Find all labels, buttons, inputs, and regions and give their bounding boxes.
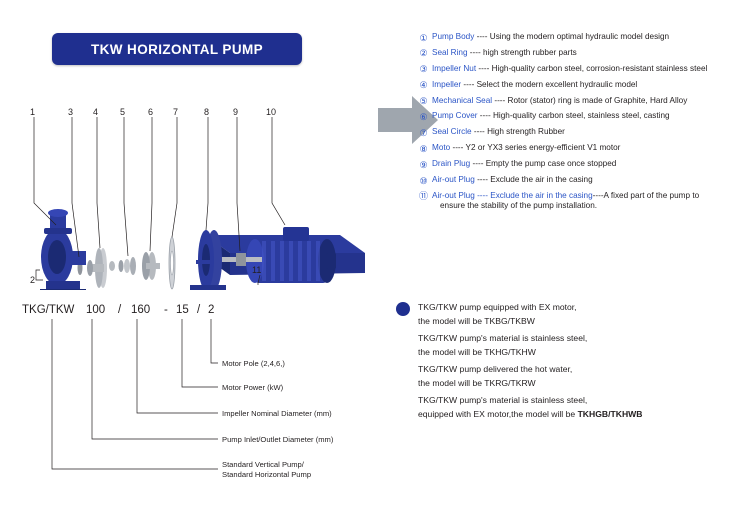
list-item: ⑥ Pump Cover ---- High-quality carbon st… [418, 111, 748, 123]
svg-text:-: - [164, 304, 168, 316]
exploded-pump-drawing: 1 3 4 5 6 7 8 9 10 2 11 [0, 85, 380, 290]
svg-text:6: 6 [148, 107, 153, 117]
list-item: ⑨ Drain Plug ---- Empty the pump case on… [418, 159, 748, 171]
svg-text:100: 100 [86, 304, 105, 316]
svg-text:2: 2 [30, 275, 35, 285]
feature-text: Mechanical Seal ---- Rotor (stator) ring… [432, 96, 748, 107]
note-item: TKG/TKW pump's material is stainless ste… [418, 393, 738, 421]
note-item: TKG/TKW pump's material is stainless ste… [418, 331, 738, 359]
feature-number: ② [418, 48, 429, 59]
feature-text: Pump Body ---- Using the modern optimal … [432, 32, 748, 43]
feature-dash: ---- [463, 80, 474, 89]
feature-desc: High strength Rubber [487, 127, 565, 136]
feature-dash: ---- [478, 64, 489, 73]
list-item: ① Pump Body ---- Using the modern optima… [418, 32, 748, 44]
note-text-bold: TKHGB/TKHWB [578, 409, 643, 419]
feature-dash: ---- [470, 48, 481, 57]
feature-text: Air-out Plug ---- Exclude the air in the… [432, 191, 748, 212]
feature-name: Impeller Nut [432, 64, 476, 73]
note-line: the model will be TKHG/TKHW [418, 345, 738, 359]
svg-text:Standard Vertical Pump/: Standard Vertical Pump/ [222, 460, 305, 469]
note-text: equipped with EX motor,the model will be [418, 409, 578, 419]
feature-desc: high strength rubber parts [483, 48, 577, 57]
feature-extra2: ensure the stability of the pump install… [432, 201, 748, 212]
page-root: TKW HORIZONTAL PUMP [0, 0, 756, 500]
model-prefix: TKG/TKW [22, 304, 75, 316]
note-line: TKG/TKW pump's material is stainless ste… [418, 393, 738, 407]
note-item: TKG/TKW pump delivered the hot water, th… [418, 362, 738, 390]
svg-text:15: 15 [176, 304, 189, 316]
feature-number: ⑤ [418, 96, 429, 107]
note-line: TKG/TKW pump equipped with EX motor, [418, 300, 738, 314]
feature-number: ⑥ [418, 112, 429, 123]
feature-number: ① [418, 33, 429, 44]
svg-text:1: 1 [30, 107, 35, 117]
feature-dash: ---- [474, 127, 485, 136]
feature-number: ④ [418, 80, 429, 91]
model-code-diagram: TKG/TKW 100 / 160 - 15 / 2 Motor Pole (2… [0, 295, 380, 500]
feature-dash: ---- [477, 32, 488, 41]
svg-text:Motor Power (kW): Motor Power (kW) [222, 383, 284, 392]
svg-text:Motor Pole (2,4,6,): Motor Pole (2,4,6,) [222, 359, 285, 368]
list-item: ② Seal Ring ---- high strength rubber pa… [418, 48, 748, 60]
feature-desc: Exclude the air in the casing [490, 175, 592, 184]
svg-text:Standard Horizontal Pump: Standard Horizontal Pump [222, 470, 311, 479]
feature-name: Pump Body [432, 32, 474, 41]
feature-text: Air-out Plug ---- Exclude the air in the… [432, 175, 748, 186]
feature-name: Seal Circle [432, 127, 472, 136]
feature-dash: ---- [494, 96, 505, 105]
svg-text:8: 8 [204, 107, 209, 117]
feature-text: Pump Cover ---- High-quality carbon stee… [432, 111, 748, 122]
feature-text: Seal Circle ---- High strength Rubber [432, 127, 748, 138]
feature-number: ⑨ [418, 160, 429, 171]
notes-list: TKG/TKW pump equipped with EX motor, the… [418, 300, 738, 424]
title-banner: TKW HORIZONTAL PUMP [52, 33, 302, 65]
note-line: TKG/TKW pump's material is stainless ste… [418, 331, 738, 345]
svg-text:Pump Inlet/Outlet Diameter (mm: Pump Inlet/Outlet Diameter (mm) [222, 435, 334, 444]
feature-desc: Empty the pump case once stopped [486, 159, 617, 168]
feature-desc: High-quality carbon steel, stainless ste… [493, 111, 670, 120]
feature-extra: ----A fixed part of the pump to [593, 191, 700, 200]
feature-text: Drain Plug ---- Empty the pump case once… [432, 159, 748, 170]
feature-name: Air-out Plug [432, 175, 475, 184]
feature-desc: Using the modern optimal hydraulic model… [490, 32, 669, 41]
feature-desc: Select the modern excellent hydraulic mo… [477, 80, 638, 89]
feature-text: Moto ---- Y2 or YX3 series energy-effici… [432, 143, 748, 154]
svg-text:4: 4 [93, 107, 98, 117]
list-item: ⑩ Air-out Plug ---- Exclude the air in t… [418, 175, 748, 187]
feature-number: ⑪ [418, 191, 429, 202]
feature-number: ⑧ [418, 144, 429, 155]
note-line: the model will be TKRG/TKRW [418, 376, 738, 390]
list-item: ⑧ Moto ---- Y2 or YX3 series energy-effi… [418, 143, 748, 155]
feature-name: Seal Ring [432, 48, 468, 57]
feature-dash: ---- [480, 111, 491, 120]
feature-text: Impeller ---- Select the modern excellen… [432, 80, 748, 91]
feature-desc: Exclude the air in the casing [490, 191, 592, 200]
feature-number: ⑦ [418, 128, 429, 139]
svg-text:9: 9 [233, 107, 238, 117]
note-line: the model will be TKBG/TKBW [418, 314, 738, 328]
svg-text:Impeller Nominal Diameter (mm): Impeller Nominal Diameter (mm) [222, 409, 332, 418]
feature-desc: Rotor (stator) ring is made of Graphite,… [508, 96, 688, 105]
feature-dash: ---- [473, 159, 484, 168]
feature-name: Air-out Plug [432, 191, 475, 200]
feature-desc: High-quality carbon steel, corrosion-res… [492, 64, 708, 73]
feature-name: Pump Cover [432, 111, 478, 120]
feature-text: Seal Ring ---- high strength rubber part… [432, 48, 748, 59]
list-item: ⑤ Mechanical Seal ---- Rotor (stator) ri… [418, 96, 748, 108]
svg-text:5: 5 [120, 107, 125, 117]
bullet-dot-icon [396, 302, 410, 316]
feature-name: Mechanical Seal [432, 96, 492, 105]
note-line-mixed: equipped with EX motor,the model will be… [418, 407, 738, 421]
note-line: TKG/TKW pump delivered the hot water, [418, 362, 738, 376]
svg-text:2: 2 [208, 304, 214, 316]
feature-dash: ---- [452, 143, 463, 152]
feature-name: Impeller [432, 80, 461, 89]
feature-desc: Y2 or YX3 series energy-efficient V1 mot… [466, 143, 621, 152]
feature-number: ⑩ [418, 176, 429, 187]
feature-dash: ---- [477, 175, 488, 184]
list-item: ④ Impeller ---- Select the modern excell… [418, 80, 748, 92]
feature-number: ③ [418, 64, 429, 75]
svg-text:3: 3 [68, 107, 73, 117]
list-item: ③ Impeller Nut ---- High-quality carbon … [418, 64, 748, 76]
feature-name: Drain Plug [432, 159, 470, 168]
svg-text:160: 160 [131, 304, 150, 316]
page-title: TKW HORIZONTAL PUMP [91, 42, 263, 57]
svg-text:10: 10 [266, 107, 276, 117]
feature-list: ① Pump Body ---- Using the modern optima… [418, 32, 748, 216]
list-item: ⑦ Seal Circle ---- High strength Rubber [418, 127, 748, 139]
note-item: TKG/TKW pump equipped with EX motor, the… [418, 300, 738, 328]
svg-text:7: 7 [173, 107, 178, 117]
svg-text:/: / [118, 304, 122, 316]
list-item: ⑪ Air-out Plug ---- Exclude the air in t… [418, 191, 748, 212]
feature-text: Impeller Nut ---- High-quality carbon st… [432, 64, 748, 75]
svg-text:/: / [197, 304, 201, 316]
svg-text:11: 11 [252, 265, 261, 275]
feature-name: Moto [432, 143, 450, 152]
feature-dash: ---- [477, 191, 488, 200]
